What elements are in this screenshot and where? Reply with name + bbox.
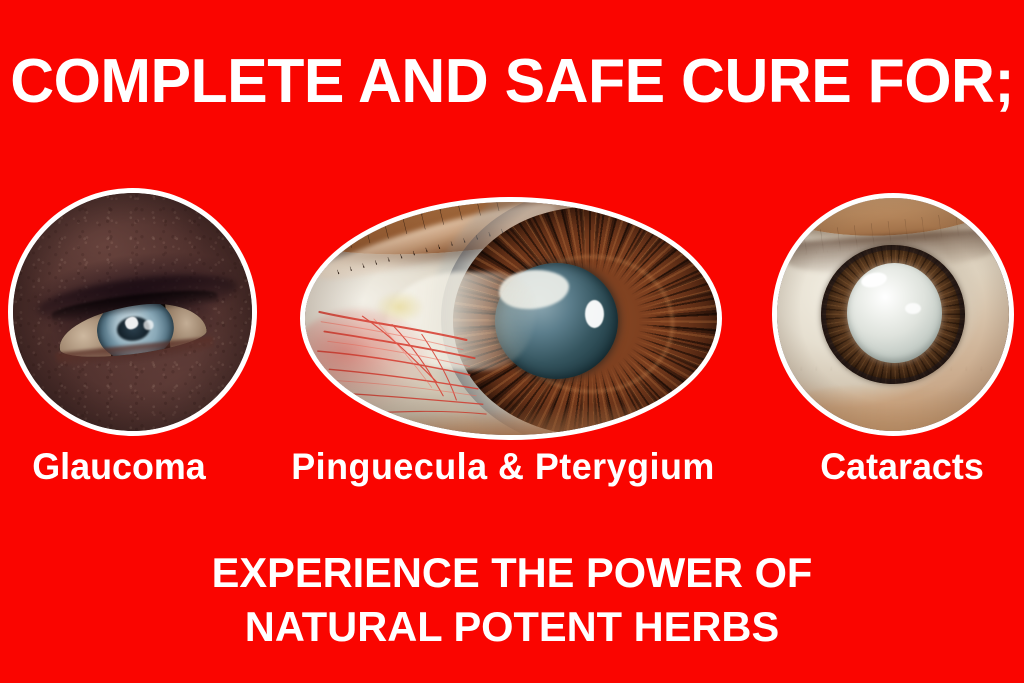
tagline-line-1: EXPERIENCE THE POWER OF: [5, 546, 1019, 600]
pterygium-eye-illustration: [305, 202, 717, 435]
photo-vignette: [305, 202, 717, 435]
glaucoma-eye-illustration: [13, 193, 252, 431]
headline: COMPLETE AND SAFE CURE FOR;: [10, 50, 1014, 114]
tagline: EXPERIENCE THE POWER OF NATURAL POTENT H…: [0, 546, 1024, 654]
tagline-line-2: NATURAL POTENT HERBS: [5, 600, 1019, 654]
caption-pterygium: Pinguecula & Pterygium: [269, 447, 737, 487]
condition-photo-glaucoma: [8, 188, 257, 436]
photo-vignette: [13, 193, 252, 431]
photo-vignette: [777, 198, 1009, 431]
cataract-eye-illustration: [777, 198, 1009, 431]
caption-cataracts: Cataracts: [789, 447, 1014, 487]
condition-photo-cataracts: [772, 193, 1014, 436]
advert-poster: COMPLETE AND SAFE CURE FOR;: [0, 0, 1024, 683]
caption-glaucoma: Glaucoma: [4, 447, 235, 487]
condition-photo-pterygium: [300, 197, 722, 440]
